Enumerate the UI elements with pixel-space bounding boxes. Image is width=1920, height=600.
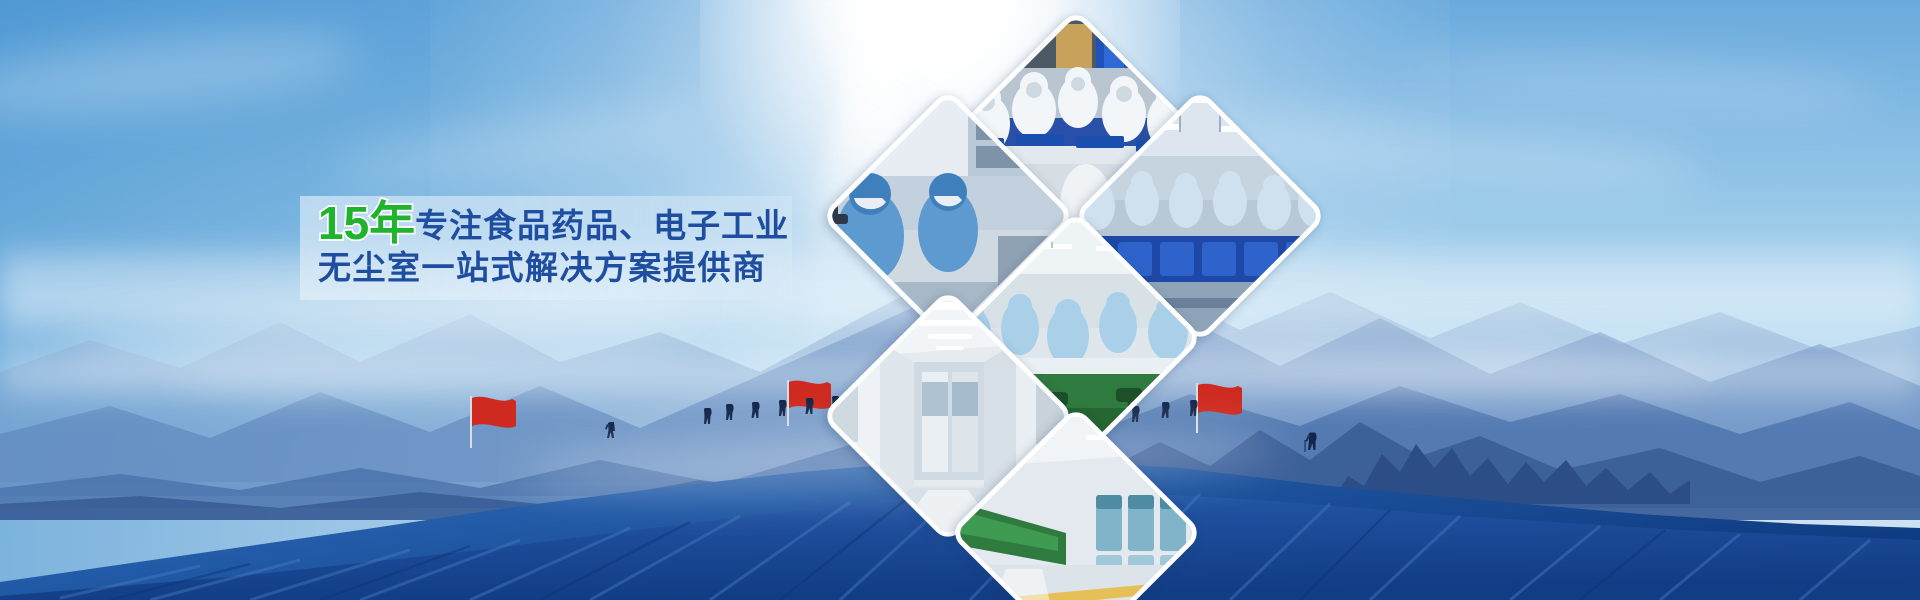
headline-line2: 无尘室一站式解决方案提供商 <box>318 249 767 286</box>
hiker-6 <box>802 394 818 420</box>
hiker-3 <box>722 400 738 426</box>
hiker-4 <box>748 398 764 424</box>
headline-block: 15年专注食品药品、电子工业 无尘室一站式解决方案提供商 <box>318 200 788 284</box>
years-highlight: 15年 <box>318 197 415 249</box>
banner-stage: 15年专注食品药品、电子工业 无尘室一站式解决方案提供商 <box>0 0 1920 600</box>
flag-cloth-icon <box>472 396 526 432</box>
hiker-1 <box>604 418 620 444</box>
cleanroom-photo-collage <box>838 88 1278 468</box>
hiker-2 <box>700 404 716 430</box>
hiker-12 <box>1304 428 1322 458</box>
headline-line1-rest: 专注食品药品、电子工业 <box>415 207 789 244</box>
hiker-5 <box>775 396 791 422</box>
